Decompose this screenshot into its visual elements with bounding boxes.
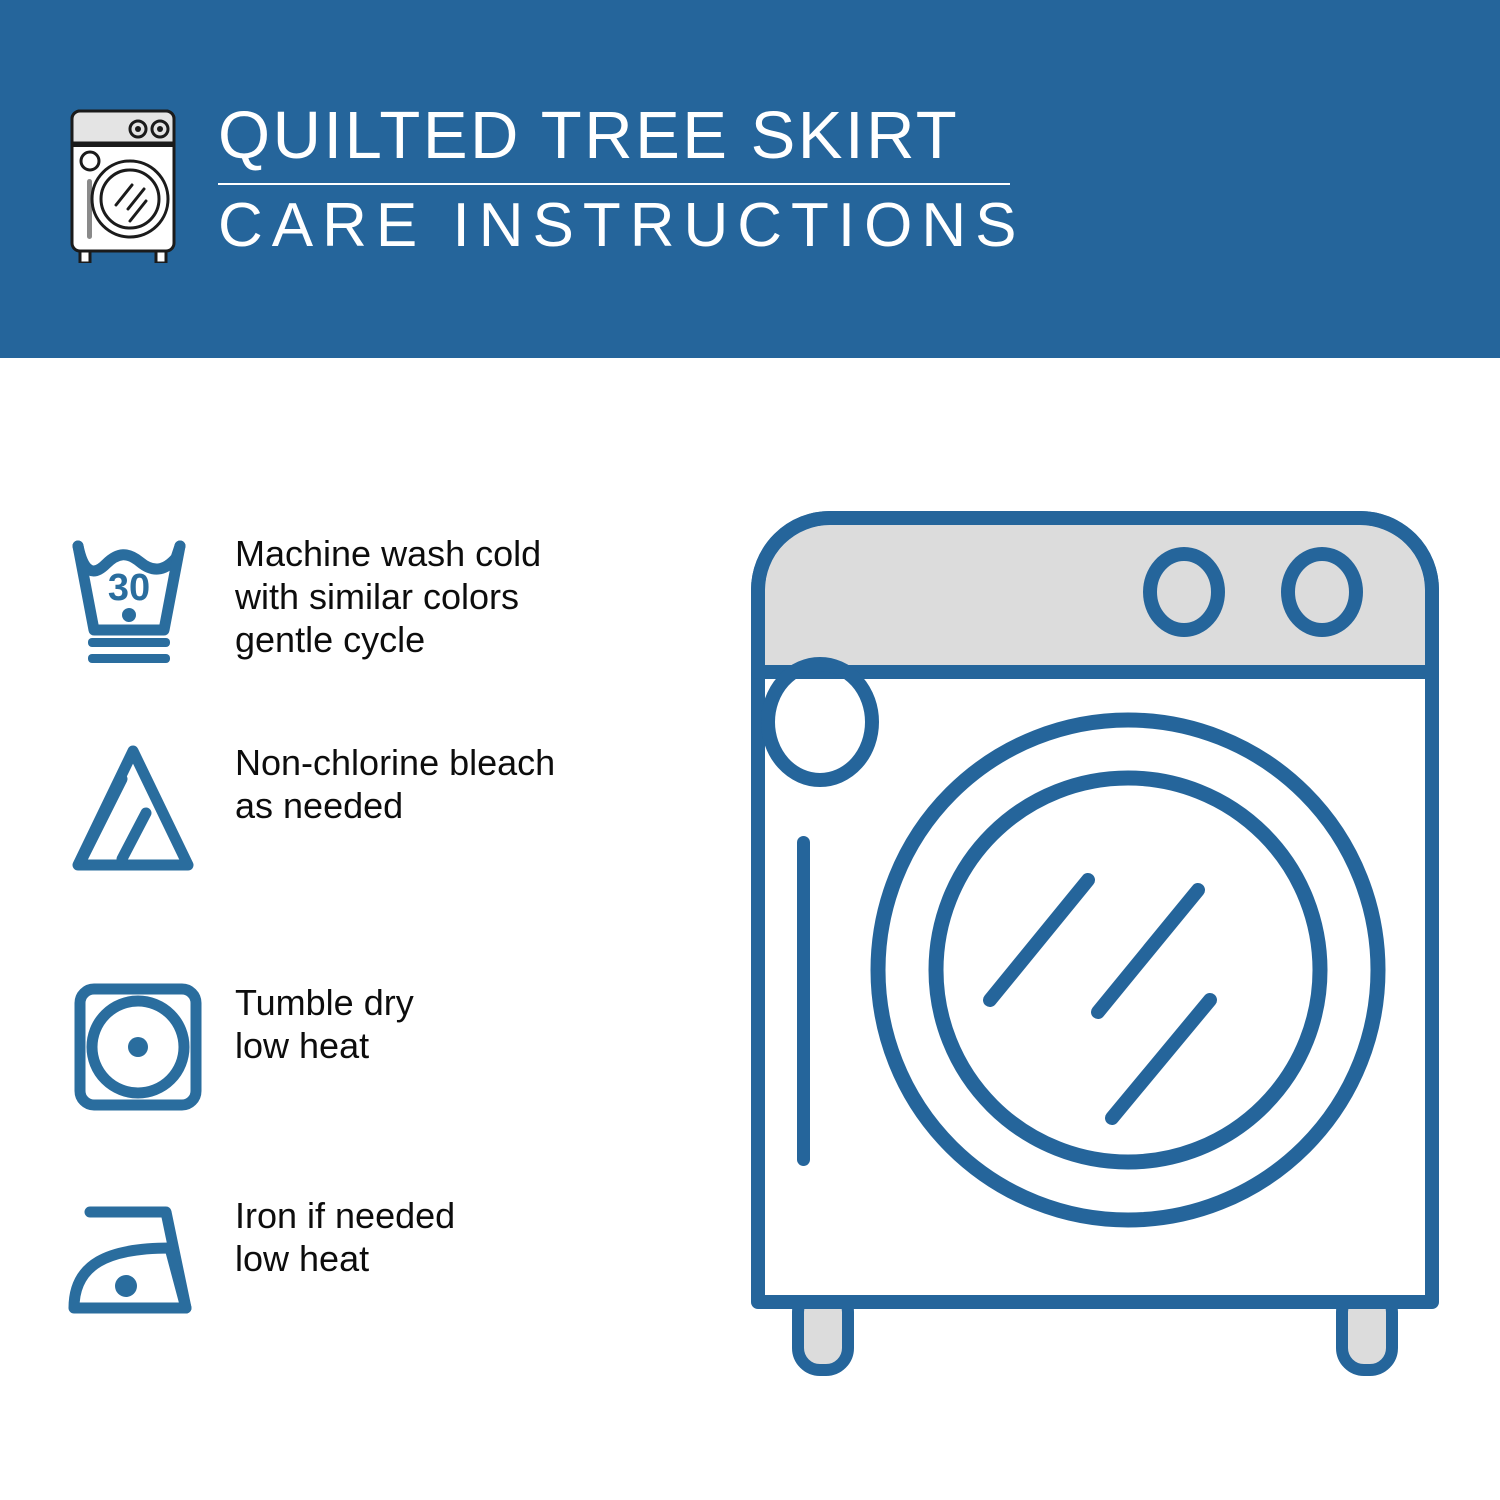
wash-temp-label: 30 xyxy=(108,567,150,609)
care-line: low heat xyxy=(235,1237,720,1280)
care-text-tumble-dry: Tumble dry low heat xyxy=(235,977,720,1067)
care-row-tumble-dry: Tumble dry low heat xyxy=(60,977,720,1122)
header-text-block: QUILTED TREE SKIRT CARE INSTRUCTIONS xyxy=(218,98,1018,263)
iron-low-heat-icon xyxy=(60,1190,235,1335)
care-line: with similar colors xyxy=(235,575,720,618)
care-row-iron: Iron if needed low heat xyxy=(60,1190,720,1335)
title-divider xyxy=(218,183,1010,185)
care-line: Iron if needed xyxy=(235,1194,720,1237)
care-line: as needed xyxy=(235,784,720,827)
care-row-bleach: Non-chlorine bleach as needed xyxy=(60,737,720,882)
washing-machine-icon xyxy=(58,103,188,263)
header-band: QUILTED TREE SKIRT CARE INSTRUCTIONS xyxy=(0,0,1500,358)
page-subtitle: CARE INSTRUCTIONS xyxy=(218,189,1018,263)
washing-machine-illustration xyxy=(740,500,1450,1410)
care-text-wash: Machine wash cold with similar colors ge… xyxy=(235,528,720,661)
wash-tub-30-gentle-icon: 30 xyxy=(60,528,235,673)
care-instructions-page: QUILTED TREE SKIRT CARE INSTRUCTIONS 30 … xyxy=(0,0,1500,1500)
care-row-wash: 30 Machine wash cold with similar colors… xyxy=(60,528,720,673)
tumble-dry-low-icon xyxy=(60,977,235,1122)
care-text-iron: Iron if needed low heat xyxy=(235,1190,720,1280)
care-line: Machine wash cold xyxy=(235,532,720,575)
page-title: QUILTED TREE SKIRT xyxy=(218,98,1018,174)
care-line: Tumble dry xyxy=(235,981,720,1024)
care-line: low heat xyxy=(235,1024,720,1067)
care-line: Non-chlorine bleach xyxy=(235,741,720,784)
care-line: gentle cycle xyxy=(235,618,720,661)
non-chlorine-bleach-triangle-icon xyxy=(60,737,235,882)
care-text-bleach: Non-chlorine bleach as needed xyxy=(235,737,720,827)
